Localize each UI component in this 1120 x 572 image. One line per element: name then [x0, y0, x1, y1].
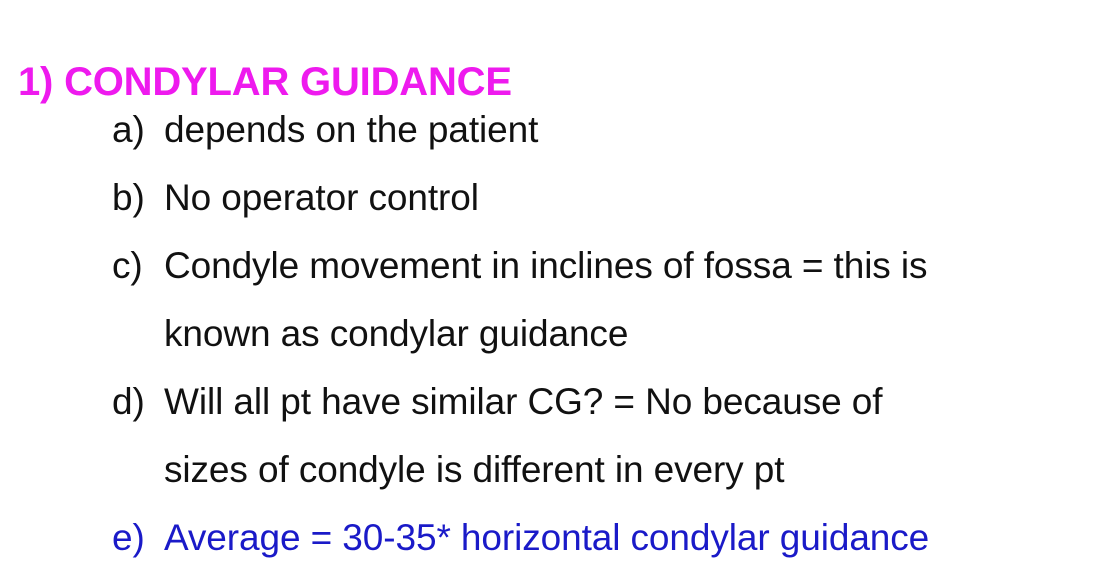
list-item-marker: e) [112, 504, 164, 572]
list-item[interactable]: b) No operator control [112, 164, 1112, 232]
list-item-text: depends on the patient [164, 96, 1094, 164]
list-item-line: depends on the patient [164, 96, 1094, 164]
list-item-text: Will all pt have similar CG? = No becaus… [164, 368, 1094, 504]
list-item-text: Average = 30-35* horizontal condylar gui… [164, 504, 1094, 572]
list-item-marker: b) [112, 164, 164, 232]
list-item-marker: a) [112, 96, 164, 164]
list-item-text: Condyle movement in inclines of fossa = … [164, 232, 1094, 368]
list-item-marker: d) [112, 368, 164, 436]
list-item-line: No operator control [164, 164, 1094, 232]
list-item-line: Condyle movement in inclines of fossa = … [164, 232, 1094, 300]
list-item-line: Will all pt have similar CG? = No becaus… [164, 368, 1094, 436]
slide-canvas: 1) CONDYLAR GUIDANCE a) depends on the p… [0, 0, 1120, 570]
outline-list: a) depends on the patient b) No operator… [112, 96, 1112, 572]
list-item-line: sizes of condyle is different in every p… [164, 436, 1094, 504]
list-item[interactable]: e) Average = 30-35* horizontal condylar … [112, 504, 1112, 572]
list-item[interactable]: c) Condyle movement in inclines of fossa… [112, 232, 1112, 368]
list-item[interactable]: d) Will all pt have similar CG? = No bec… [112, 368, 1112, 504]
list-item[interactable]: a) depends on the patient [112, 96, 1112, 164]
list-item-line: Average = 30-35* horizontal condylar gui… [164, 504, 1094, 572]
list-item-marker: c) [112, 232, 164, 300]
list-item-line: known as condylar guidance [164, 300, 1094, 368]
list-item-text: No operator control [164, 164, 1094, 232]
